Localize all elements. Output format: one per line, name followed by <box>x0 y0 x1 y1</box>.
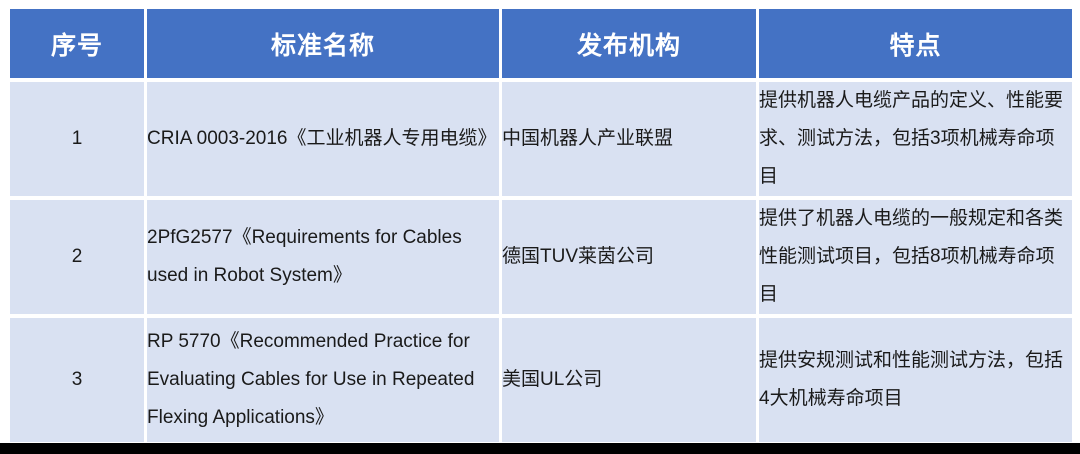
page-root: 序号 标准名称 发布机构 特点 1 CRIA 0003-2016《工业机器人专用… <box>0 0 1080 454</box>
table-row: 2 2PfG2577《Requirements for Cables used … <box>10 200 1072 314</box>
bottom-black-bar <box>0 443 1080 454</box>
table-header: 序号 标准名称 发布机构 特点 <box>10 9 1072 78</box>
cell-issuing-body: 美国UL公司 <box>502 318 756 442</box>
cell-no: 1 <box>10 82 144 196</box>
header-cell-no: 序号 <box>10 9 144 78</box>
standards-table-container: 序号 标准名称 发布机构 特点 1 CRIA 0003-2016《工业机器人专用… <box>7 5 1073 446</box>
cell-issuing-body: 德国TUV莱茵公司 <box>502 200 756 314</box>
cell-no: 3 <box>10 318 144 442</box>
cell-standard-name: CRIA 0003-2016《工业机器人专用电缆》 <box>147 82 499 196</box>
table-row: 3 RP 5770《Recommended Practice for Evalu… <box>10 318 1072 442</box>
cell-no: 2 <box>10 200 144 314</box>
header-cell-issuing-body: 发布机构 <box>502 9 756 78</box>
header-cell-features: 特点 <box>759 9 1072 78</box>
header-row: 序号 标准名称 发布机构 特点 <box>10 9 1072 78</box>
cell-features: 提供机器人电缆产品的定义、性能要求、测试方法，包括3项机械寿命项目 <box>759 82 1072 196</box>
cell-features: 提供了机器人电缆的一般规定和各类性能测试项目，包括8项机械寿命项目 <box>759 200 1072 314</box>
header-cell-standard-name: 标准名称 <box>147 9 499 78</box>
cell-standard-name: RP 5770《Recommended Practice for Evaluat… <box>147 318 499 442</box>
table-row: 1 CRIA 0003-2016《工业机器人专用电缆》 中国机器人产业联盟 提供… <box>10 82 1072 196</box>
cell-issuing-body: 中国机器人产业联盟 <box>502 82 756 196</box>
cell-standard-name: 2PfG2577《Requirements for Cables used in… <box>147 200 499 314</box>
table-body: 1 CRIA 0003-2016《工业机器人专用电缆》 中国机器人产业联盟 提供… <box>10 82 1072 442</box>
cell-features: 提供安规测试和性能测试方法，包括4大机械寿命项目 <box>759 318 1072 442</box>
standards-table: 序号 标准名称 发布机构 特点 1 CRIA 0003-2016《工业机器人专用… <box>7 5 1075 446</box>
